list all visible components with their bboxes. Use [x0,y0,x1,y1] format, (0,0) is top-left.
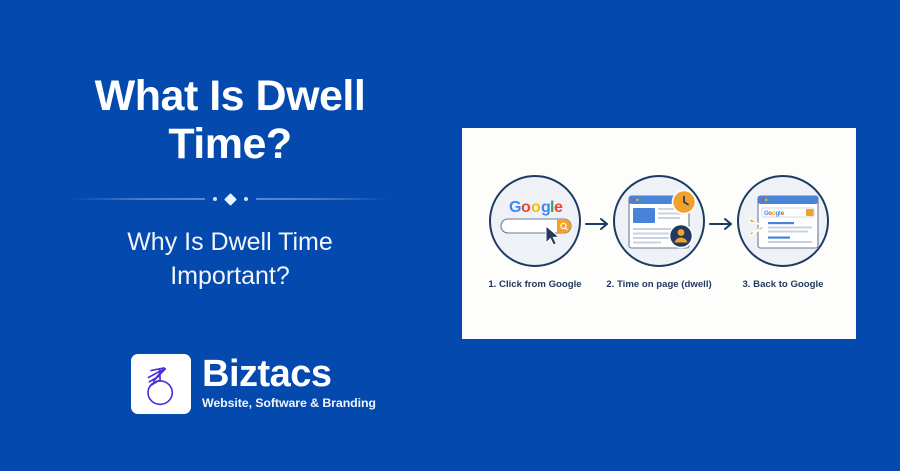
step-1-caption: 1. Click from Google [488,279,581,290]
step-2-caption: 2. Time on page (dwell) [606,279,711,290]
svg-text:G: G [509,199,521,216]
step-2-group [614,176,704,266]
page-subtitle: Why Is Dwell Time Important? [65,226,395,294]
step-1-group: G o o g l e [490,176,580,266]
divider-dot-right [244,197,248,201]
svg-text:e: e [554,199,563,216]
step-3-caption: 3. Back to Google [742,279,823,290]
logo-tagline: Website, Software & Branding [202,397,376,411]
divider [71,188,389,210]
logo-mark-icon [131,354,191,414]
logo-name: Biztacs [202,356,376,393]
svg-text:o: o [521,199,531,216]
divider-diamond-icon [224,193,237,206]
svg-text:o: o [531,199,541,216]
banner-canvas: What Is Dwell Time? Why Is Dwell Time Im… [0,0,900,471]
divider-dot-left [213,197,217,201]
brand-logo[interactable]: Biztacs Website, Software & Branding [131,354,376,414]
page-title: What Is Dwell Time? [50,72,410,168]
divider-ornament [205,195,256,204]
step-3-group: G o o g l e [738,176,828,266]
logo-wordmark: Biztacs Website, Software & Branding [202,354,376,411]
illustration-panel: G o o g l e [462,128,856,339]
